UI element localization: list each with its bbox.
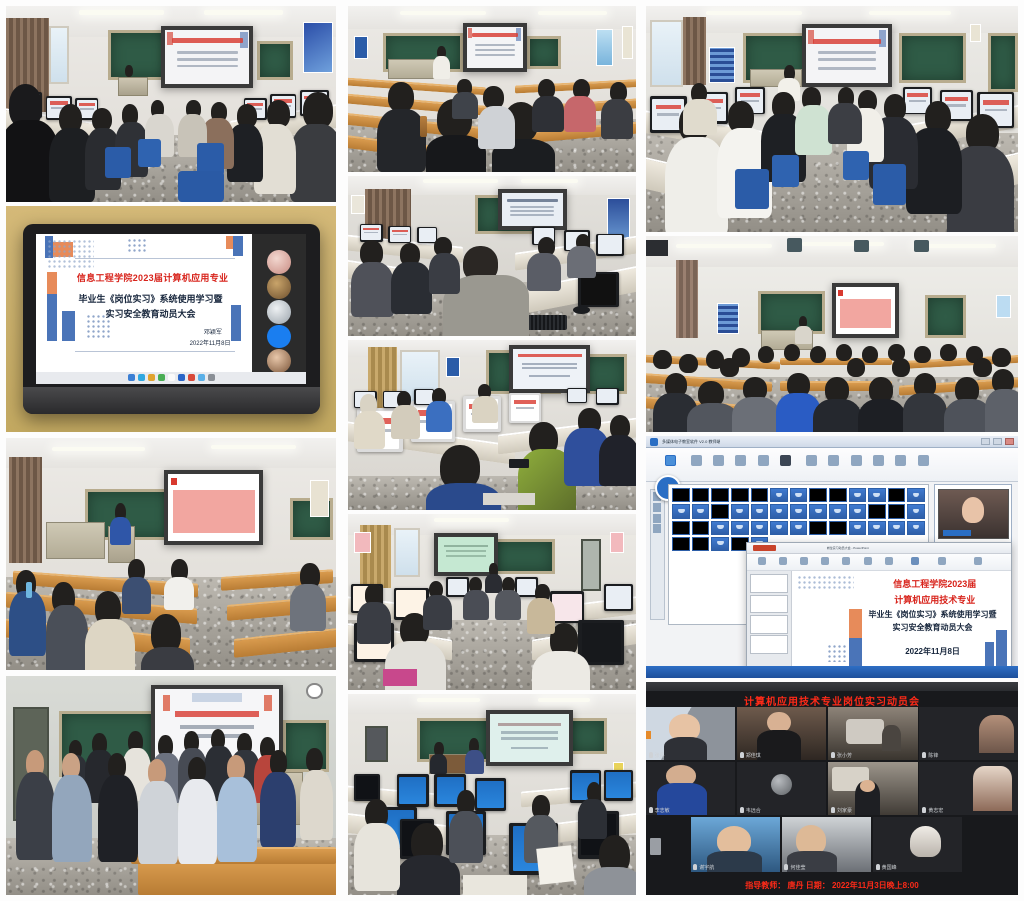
participant-name: 黄国峰 <box>876 864 897 871</box>
photo-collage: 信息工程学院2023届计算机应用专业 毕业生《岗位实习》系统使用学习暨 实习安全… <box>0 0 1024 901</box>
collage-photo-computer-lab-right <box>646 6 1018 232</box>
slide-thumbnail[interactable] <box>750 635 788 654</box>
collage-photo-lecture-hall-large <box>646 236 1018 432</box>
student-thumbnail[interactable] <box>888 488 906 502</box>
participant-name: 张丹 <box>649 752 665 759</box>
student-thumbnail[interactable] <box>849 521 867 535</box>
student-thumbnail[interactable] <box>770 504 788 518</box>
student-thumbnail[interactable] <box>770 488 788 502</box>
mic-icon <box>831 807 835 813</box>
student-thumbnail[interactable] <box>829 504 847 518</box>
app-icon <box>650 438 658 446</box>
student-thumbnail[interactable] <box>711 537 729 551</box>
student-thumbnail[interactable] <box>907 521 925 535</box>
student-thumbnail[interactable] <box>888 504 906 518</box>
tool-icon[interactable] <box>691 455 702 466</box>
mic-icon <box>922 752 926 758</box>
participant-name: 韦远合 <box>740 807 761 814</box>
ppt-titlebar: 岗位实习动员大会 - PowerPoint <box>747 543 1011 553</box>
mic-icon <box>922 807 926 813</box>
ribbon-icon[interactable] <box>911 557 919 565</box>
tool-icon[interactable] <box>735 455 746 466</box>
collage-photo-lecture-hall-front <box>348 6 636 172</box>
ppt-slide-navigator[interactable] <box>747 571 792 670</box>
pin-badge <box>646 731 651 738</box>
student-thumbnail[interactable] <box>790 488 808 502</box>
collage-photo-classroom-lab-overview <box>6 6 336 202</box>
student-thumbnail[interactable] <box>672 521 690 535</box>
windows-taskbar[interactable] <box>646 666 1018 678</box>
participant-tile[interactable]: 刘家豪 <box>828 762 917 815</box>
student-thumbnail[interactable] <box>692 488 710 502</box>
ribbon-icon[interactable] <box>974 557 982 565</box>
taskbar-icon[interactable] <box>178 374 185 381</box>
participant-tile[interactable]: 何佳莹 <box>782 817 871 872</box>
taskbar-icon[interactable] <box>128 374 135 381</box>
participant-tile[interactable]: 陈锋 <box>919 707 1018 760</box>
participant-name: 黄志宏 <box>922 807 943 814</box>
ribbon-icon[interactable] <box>842 557 850 565</box>
mic-icon <box>740 807 744 813</box>
student-thumbnail[interactable] <box>751 521 769 535</box>
ppt-slide-org: 信息工程学院2023届 <box>871 577 998 590</box>
ppt-slide-title-2: 实习安全教育动员大会 <box>862 622 1002 633</box>
student-thumbnail[interactable] <box>829 521 847 535</box>
slide-thumbnail[interactable] <box>750 615 788 634</box>
sidebar-icon[interactable] <box>653 524 661 533</box>
tool-icon[interactable] <box>780 455 791 466</box>
rd-sidebar[interactable] <box>650 489 665 620</box>
student-thumbnail[interactable] <box>907 488 925 502</box>
laptop-slide-title-1: 毕业生《岗位实习》系统使用学习暨 <box>66 292 235 305</box>
tool-icon[interactable] <box>918 455 929 466</box>
tool-icon[interactable] <box>828 455 839 466</box>
close-button[interactable] <box>1005 438 1014 445</box>
student-thumbnail[interactable] <box>731 504 749 518</box>
student-thumbnail[interactable] <box>790 521 808 535</box>
participant-name: 陈锋 <box>922 752 938 759</box>
laptop-slide-presenter: 邓颖军 <box>204 327 222 336</box>
student-thumbnail[interactable] <box>672 488 690 502</box>
student-thumbnail[interactable] <box>829 488 847 502</box>
student-thumbnail[interactable] <box>809 488 827 502</box>
participant-tile[interactable]: 郑佳琪 <box>737 707 826 760</box>
teacher-webcam <box>938 489 1010 539</box>
rd-toolbar[interactable] <box>646 448 1018 482</box>
ppt-slide-canvas: 信息工程学院2023届 计算机应用技术专业 毕业生《岗位实习》系统使用学习暨 实… <box>792 571 1011 670</box>
student-thumbnail[interactable] <box>770 521 788 535</box>
ribbon-icon[interactable] <box>779 557 787 565</box>
student-thumbnail[interactable] <box>849 504 867 518</box>
mic-icon <box>876 864 880 870</box>
taskbar-icon[interactable] <box>138 374 145 381</box>
student-thumbnail[interactable] <box>809 521 827 535</box>
collage-photo-laptop-presentation: 信息工程学院2023届计算机应用专业 毕业生《岗位实习》系统使用学习暨 实习安全… <box>6 206 336 432</box>
slide-thumbnail[interactable] <box>750 595 788 614</box>
mic-icon <box>649 752 653 758</box>
participant-name: 刘家豪 <box>831 807 852 814</box>
mic-icon <box>831 752 835 758</box>
ribbon-icon[interactable] <box>938 557 946 565</box>
student-thumbnail[interactable] <box>731 488 749 502</box>
broadcast-icon[interactable] <box>665 455 676 466</box>
student-thumbnail[interactable] <box>888 521 906 535</box>
collage-photo-lecture-hall-left <box>6 438 336 670</box>
student-thumbnail[interactable] <box>692 521 710 535</box>
taskbar-icon[interactable] <box>198 374 205 381</box>
participant-name: 谢宇航 <box>693 864 714 871</box>
meeting-footer-caption: 指导教师： 唐丹 日期： 2022年11月3日晚上8:00 <box>646 876 1018 895</box>
ppt-ribbon[interactable] <box>747 554 1011 572</box>
ribbon-icon[interactable] <box>885 557 893 565</box>
collage-photo-lab-blue-screens <box>348 694 636 895</box>
collage-photo-lab-green-screen <box>348 514 636 690</box>
mic-icon <box>740 752 744 758</box>
ppt-slide-date: 2022年11月8日 <box>867 646 998 657</box>
participant-tile[interactable]: 韦远合 <box>737 762 826 815</box>
taskbar-icon[interactable] <box>188 374 195 381</box>
laptop-slide-date: 2022年11月8日 <box>190 338 231 347</box>
webcam-name-badge <box>943 530 971 536</box>
slide-thumbnail[interactable] <box>750 574 788 593</box>
student-thumbnail[interactable] <box>692 504 710 518</box>
student-thumbnail[interactable] <box>751 488 769 502</box>
laptop-slide-headline: 信息工程学院2023届计算机应用专业 <box>70 271 234 284</box>
sidebar-icon[interactable] <box>653 503 661 512</box>
participant-tile[interactable]: 张丹 <box>646 707 735 760</box>
student-thumbnail[interactable] <box>731 521 749 535</box>
student-thumbnail[interactable] <box>672 537 690 551</box>
collage-photo-remote-desktop-share: 多媒体电子教室软件 V2.0 教师端 <box>646 436 1018 678</box>
scroll-indicator[interactable] <box>650 838 661 855</box>
tool-icon[interactable] <box>873 455 884 466</box>
tool-icon[interactable] <box>895 455 906 466</box>
mic-icon <box>693 864 697 870</box>
student-thumbnail[interactable] <box>711 504 729 518</box>
collage-photo-video-meeting: 计算机应用技术专业岗位实习动员会 张丹 <box>646 682 1018 895</box>
student-thumbnail[interactable] <box>672 504 690 518</box>
taskbar-icon[interactable] <box>168 374 175 381</box>
participant-name: 张小芳 <box>831 752 852 759</box>
sidebar-icon[interactable] <box>653 514 661 523</box>
participant-tile[interactable]: 黄志宏 <box>919 762 1018 815</box>
tool-icon[interactable] <box>806 455 817 466</box>
ppt-slide-title-1: 毕业生《岗位实习》系统使用学习暨 <box>862 609 1002 620</box>
ppt-slide-major: 计算机应用技术专业 <box>871 593 998 606</box>
student-thumbnail[interactable] <box>692 537 710 551</box>
student-thumbnail[interactable] <box>849 488 867 502</box>
taskbar-icon[interactable] <box>148 374 155 381</box>
student-thumbnail[interactable] <box>868 488 886 502</box>
ribbon-icon[interactable] <box>800 557 808 565</box>
collage-photo-lab-students-working <box>348 176 636 336</box>
student-thumbnail[interactable] <box>868 521 886 535</box>
ribbon-icon[interactable] <box>864 557 872 565</box>
participant-grid: 张丹 郑佳琪 <box>646 703 1018 876</box>
mic-icon <box>784 864 788 870</box>
taskbar-icon[interactable] <box>208 374 215 381</box>
minimize-button[interactable] <box>981 438 990 445</box>
student-thumbnail[interactable] <box>809 504 827 518</box>
rd-window-titlebar: 多媒体电子教室软件 V2.0 教师端 <box>646 436 1018 448</box>
student-thumbnail[interactable] <box>790 504 808 518</box>
participant-tile[interactable]: 黄国峰 <box>873 817 962 872</box>
student-thumbnail[interactable] <box>711 488 729 502</box>
meeting-app-toolbar[interactable] <box>646 682 1018 691</box>
tool-icon[interactable] <box>713 455 724 466</box>
collage-photo-lab-imac-row <box>348 340 636 510</box>
windows-taskbar[interactable] <box>36 372 306 384</box>
ribbon-icon[interactable] <box>758 557 766 565</box>
taskbar-icon[interactable] <box>158 374 165 381</box>
laptop-slide-title-2: 实习安全教育动员大会 <box>66 307 235 320</box>
maximize-button[interactable] <box>993 438 1002 445</box>
meeting-participant-rail <box>252 234 306 372</box>
student-thumbnail[interactable] <box>751 504 769 518</box>
ribbon-icon[interactable] <box>821 557 829 565</box>
student-thumbnail[interactable] <box>711 521 729 535</box>
powerpoint-window[interactable]: 岗位实习动员大会 - PowerPoint <box>746 542 1012 670</box>
participant-tile[interactable]: 李志敏 <box>646 762 735 815</box>
mic-icon <box>649 807 653 813</box>
powerpoint-icon <box>753 545 777 551</box>
student-thumbnail[interactable] <box>907 504 925 518</box>
tool-icon[interactable] <box>851 455 862 466</box>
participant-name: 李志敏 <box>649 807 670 814</box>
ppt-window-title: 岗位实习动员大会 - PowerPoint <box>827 546 964 550</box>
rd-window-title: 多媒体电子教室软件 V2.0 教师端 <box>662 439 720 445</box>
participant-name: 郑佳琪 <box>740 752 761 759</box>
participant-tile[interactable]: 张小芳 <box>828 707 917 760</box>
tool-icon[interactable] <box>758 455 769 466</box>
participant-tile[interactable]: 谢宇航 <box>691 817 780 872</box>
collage-photo-group-photo <box>6 676 336 895</box>
participant-name: 何佳莹 <box>784 864 805 871</box>
student-thumbnail[interactable] <box>868 504 886 518</box>
